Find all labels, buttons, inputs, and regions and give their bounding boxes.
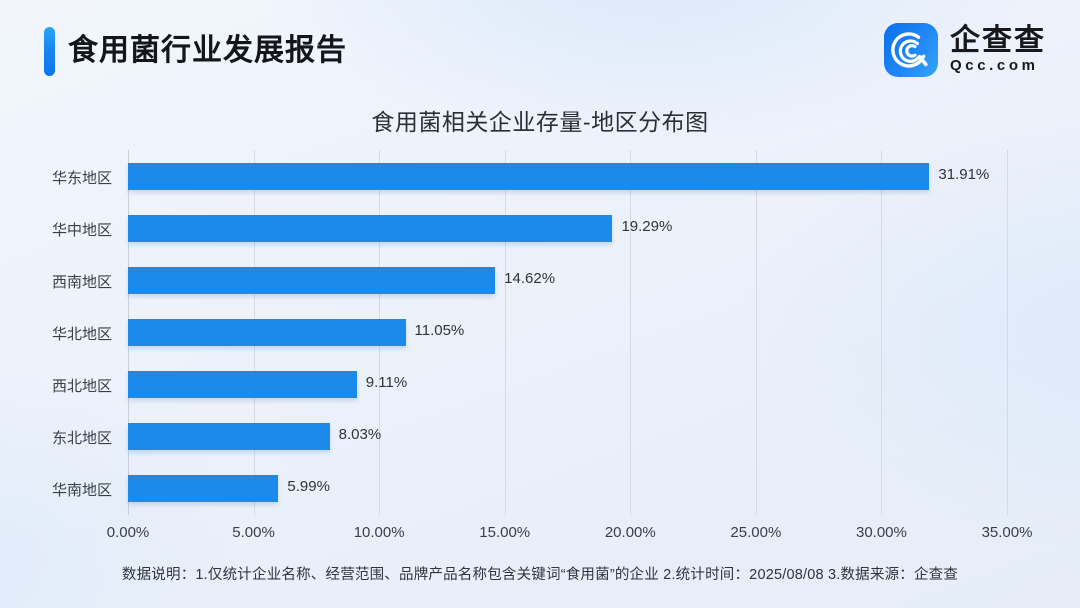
bar-row[interactable]: [128, 215, 612, 242]
x-axis-tick-label: 0.00%: [68, 524, 188, 541]
brand-name-en: Qcc.com: [950, 57, 1046, 75]
brand-logo[interactable]: 企查查 Qcc.com: [884, 22, 1046, 78]
category-label: 西南地区: [0, 271, 112, 292]
brand-name-cn: 企查查: [950, 25, 1046, 57]
bar[interactable]: [128, 163, 929, 190]
x-axis-tick-label: 35.00%: [947, 524, 1067, 541]
category-label: 华东地区: [0, 167, 112, 188]
report-page: 食用菌行业发展报告 企查查 Qcc.com 食用菌相关企业存量-地区分布图: [0, 0, 1080, 608]
gridline: [881, 150, 882, 515]
bar-row[interactable]: [128, 371, 357, 398]
gridline: [756, 150, 757, 515]
bar-row[interactable]: [128, 319, 406, 346]
gridline: [630, 150, 631, 515]
bar-value-label: 19.29%: [621, 218, 672, 235]
category-label: 西北地区: [0, 375, 112, 396]
bar-value-label: 31.91%: [938, 166, 989, 183]
gridline: [1007, 150, 1008, 515]
bar[interactable]: [128, 267, 495, 294]
chart-title: 食用菌相关企业存量-地区分布图: [0, 103, 1080, 137]
x-axis-tick-label: 5.00%: [194, 524, 314, 541]
page-header: 食用菌行业发展报告 企查查 Qcc.com: [0, 0, 1080, 100]
footnote: 数据说明：1.仅统计企业名称、经营范围、品牌产品名称包含关键词“食用菌”的企业 …: [0, 563, 1080, 584]
bar-value-label: 5.99%: [287, 478, 330, 495]
bar-value-label: 8.03%: [339, 426, 382, 443]
bar[interactable]: [128, 423, 330, 450]
bar-row[interactable]: [128, 475, 278, 502]
brand-text: 企查查 Qcc.com: [950, 23, 1046, 77]
page-title: 食用菌行业发展报告: [68, 27, 347, 75]
x-axis-tick-label: 10.00%: [319, 524, 439, 541]
bar[interactable]: [128, 319, 406, 346]
gridline: [505, 150, 506, 515]
qcc-logo-icon: [884, 23, 938, 77]
bar-row[interactable]: [128, 163, 929, 190]
bar-row[interactable]: [128, 423, 330, 450]
x-axis-tick-label: 25.00%: [696, 524, 816, 541]
category-label: 华中地区: [0, 219, 112, 240]
bar-value-label: 14.62%: [504, 270, 555, 287]
bar-value-label: 11.05%: [415, 322, 465, 339]
x-axis-tick-label: 20.00%: [570, 524, 690, 541]
bar-row[interactable]: [128, 267, 495, 294]
chart-plot-area: [128, 150, 1007, 515]
x-axis-tick-label: 30.00%: [821, 524, 941, 541]
bar[interactable]: [128, 371, 357, 398]
x-axis-tick-label: 15.00%: [445, 524, 565, 541]
category-label: 华南地区: [0, 479, 112, 500]
category-label: 华北地区: [0, 323, 112, 344]
bar-value-label: 9.11%: [366, 374, 407, 391]
category-label: 东北地区: [0, 427, 112, 448]
bar[interactable]: [128, 475, 278, 502]
title-accent-bar: [44, 27, 55, 76]
bar[interactable]: [128, 215, 612, 242]
